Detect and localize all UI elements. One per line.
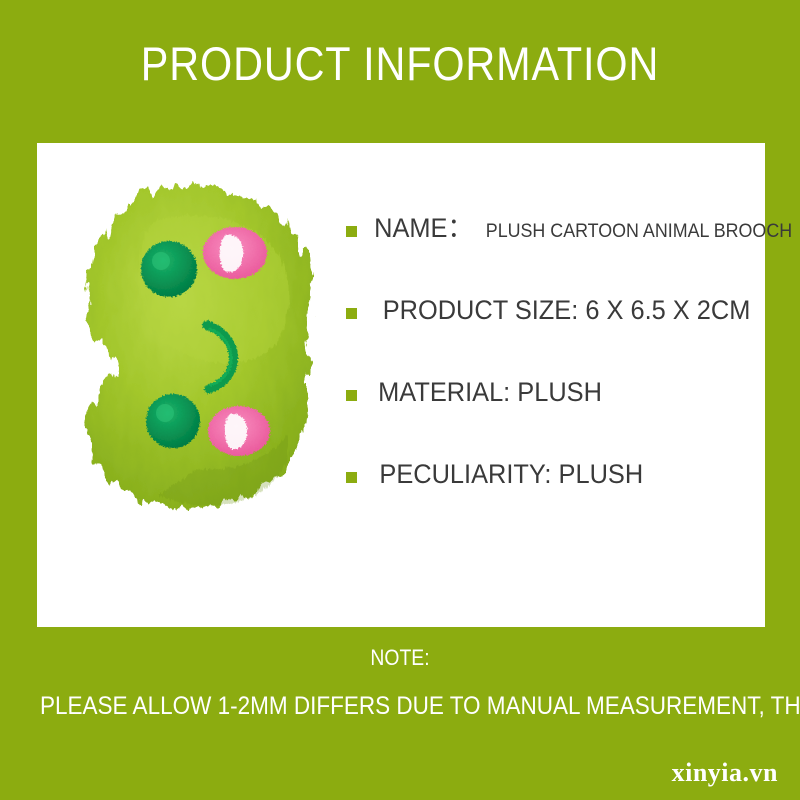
eye-right [146, 394, 200, 448]
spec-row-peculiarity: PECULIARITY: PLUSH [346, 461, 756, 543]
spec-text-name: NAME： PLUSH CARTOON ANIMAL BROOCH [371, 215, 800, 242]
content-card: NAME： PLUSH CARTOON ANIMAL BROOCH PRODUC… [37, 143, 765, 627]
cheek-top [203, 227, 267, 279]
spec-label-product-size: PRODUCT SIZE: 6 X 6.5 X 2CM [383, 297, 751, 324]
product-image [47, 173, 337, 533]
cheek-bottom [208, 406, 270, 456]
page-title: PRODUCT INFORMATION [48, 40, 752, 87]
watermark: xinyia.vn [672, 760, 778, 786]
spec-text-peculiarity: PECULIARITY: PLUSH [371, 461, 652, 488]
square-bullet-icon [346, 226, 357, 237]
square-bullet-icon [346, 308, 357, 319]
plush-body [86, 188, 312, 507]
spec-label-peculiarity: PECULIARITY: PLUSH [379, 461, 643, 488]
plush-brooch-illustration [47, 173, 337, 533]
note-title: NOTE: [48, 647, 752, 669]
spec-row-material: MATERIAL: PLUSH [346, 379, 756, 461]
specification-list: NAME： PLUSH CARTOON ANIMAL BROOCH PRODUC… [346, 215, 756, 543]
spec-label-name: NAME： [374, 215, 473, 242]
spec-row-name: NAME： PLUSH CARTOON ANIMAL BROOCH [346, 215, 756, 297]
spec-text-product-size: PRODUCT SIZE: 6 X 6.5 X 2CM [371, 297, 762, 324]
square-bullet-icon [346, 472, 357, 483]
spec-value-name: PLUSH CARTOON ANIMAL BROOCH [486, 222, 792, 241]
spec-text-material: MATERIAL: PLUSH [371, 379, 609, 406]
square-bullet-icon [346, 390, 357, 401]
product-information-banner: PRODUCT INFORMATION [0, 0, 800, 800]
note-body: PLEASE ALLOW 1-2MM DIFFERS DUE TO MANUAL… [40, 694, 760, 719]
eye-left [141, 241, 197, 297]
spec-label-material: MATERIAL: PLUSH [378, 379, 602, 406]
spec-row-product-size: PRODUCT SIZE: 6 X 6.5 X 2CM [346, 297, 756, 379]
